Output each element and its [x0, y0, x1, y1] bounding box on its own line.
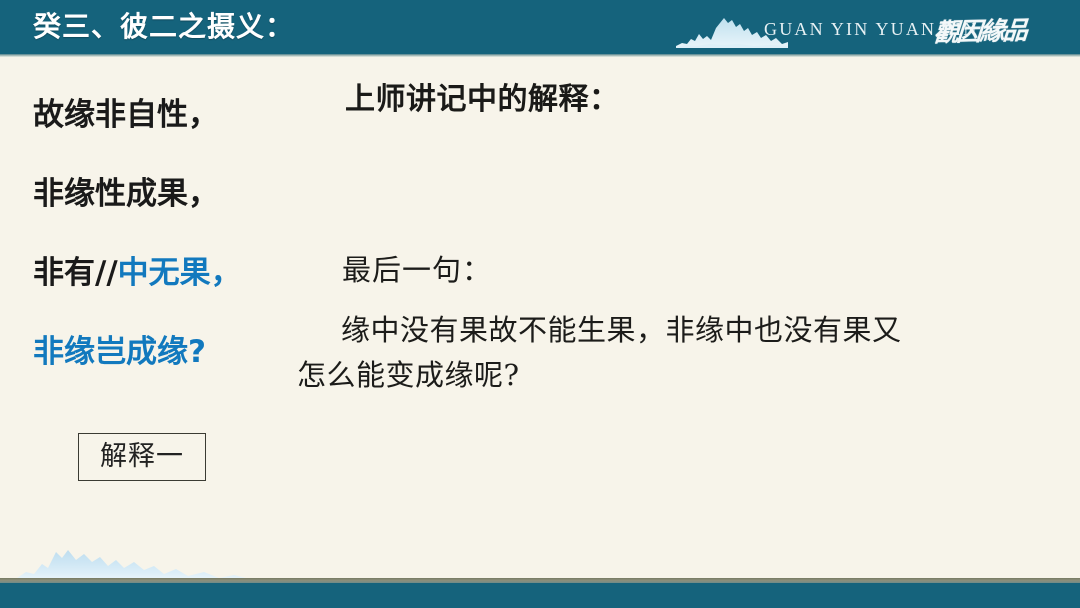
verse-line-4-highlight: 非缘岂成缘?	[33, 334, 206, 370]
verse-line-3-plain: 非有//	[33, 255, 118, 291]
verse-line-2-plain: 非缘性成果，	[33, 176, 219, 212]
verse-line-1-plain: 故缘非自性，	[33, 97, 219, 133]
brand-logo: GUAN YIN YUAN PIN 觀因緣品	[676, 8, 1066, 52]
explanation-label-box[interactable]: 解释一	[78, 433, 206, 481]
commentary-body-line-2: 怎么能变成缘呢?	[297, 353, 1042, 398]
commentary-heading: 上师讲记中的解释：	[345, 74, 620, 118]
slide-footer-bar	[0, 583, 1080, 608]
brand-chinese-calligraphy: 觀因緣品	[932, 11, 1027, 49]
verse-line-1: 故缘非自性，	[33, 96, 303, 134]
explanation-label-text: 解释一	[79, 434, 205, 479]
commentary-body-line-1: 缘中没有果故不能生果，非缘中也没有果又	[297, 308, 1042, 353]
slide-title: 癸三、彼二之摄义：	[33, 3, 294, 51]
commentary-body: 缘中没有果故不能生果，非缘中也没有果又 怎么能变成缘呢?	[297, 308, 1042, 398]
verse-line-2: 非缘性成果，	[33, 175, 303, 213]
footer-mountain-icon	[4, 524, 384, 582]
verse-column: 故缘非自性， 非缘性成果， 非有//中无果， 非缘岂成缘?	[33, 96, 303, 371]
commentary-body-line-1-text: 缘中没有果故不能生果，非缘中也没有果又	[341, 313, 902, 347]
commentary-subheading: 最后一句：	[342, 247, 492, 289]
slide-header-bar: 癸三、彼二之摄义： GUAN YIN YUAN PIN 觀因緣品	[0, 0, 1080, 54]
presentation-slide: 癸三、彼二之摄义： GUAN YIN YUAN PIN 觀因緣品 故缘非自性，	[0, 0, 1080, 608]
verse-line-4: 非缘岂成缘?	[33, 333, 303, 371]
verse-line-3: 非有//中无果，	[33, 254, 303, 292]
header-divider	[0, 54, 1080, 57]
verse-line-3-highlight: 中无果，	[118, 255, 242, 291]
